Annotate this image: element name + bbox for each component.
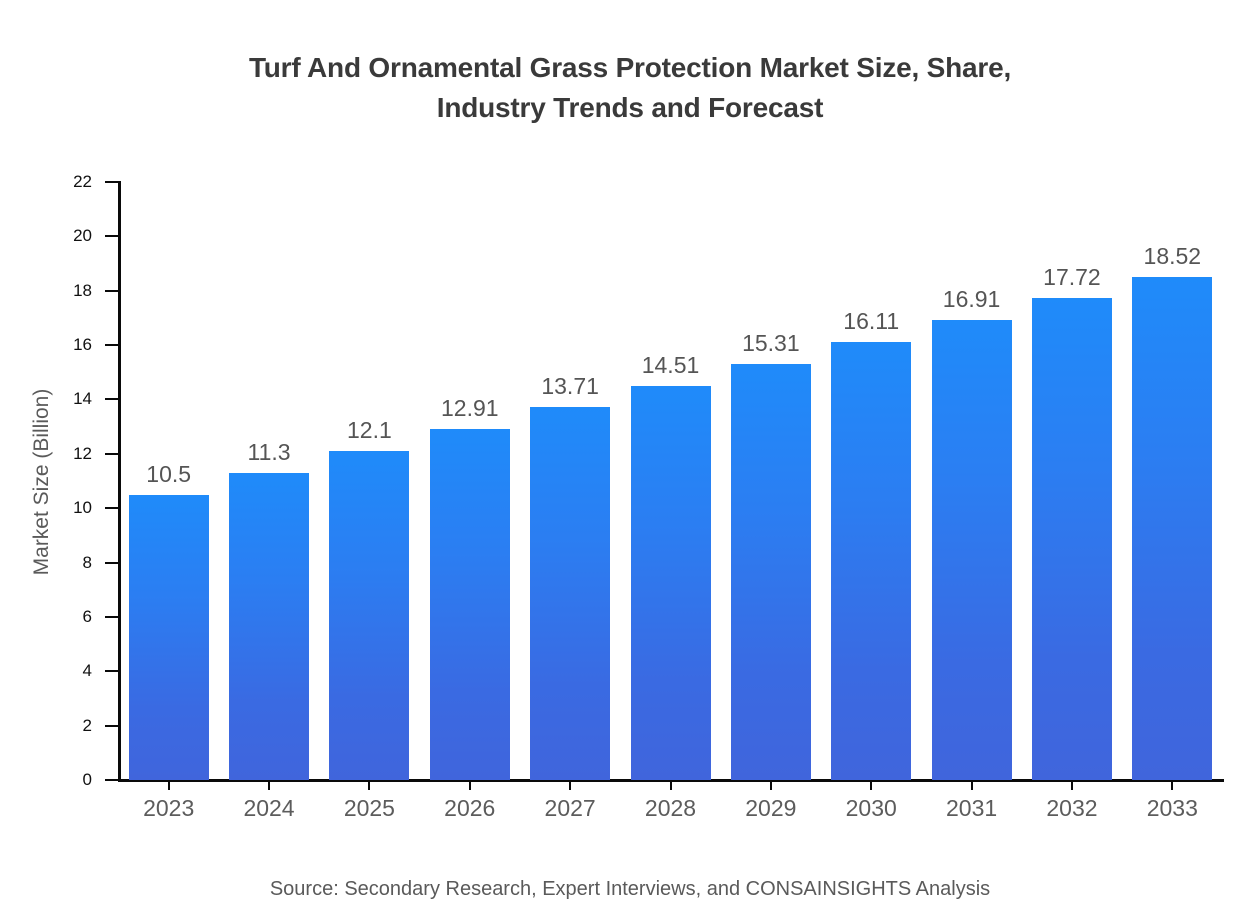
y-tick-label-14: 14 — [0, 390, 92, 407]
bar-2032[interactable] — [1032, 298, 1112, 780]
y-tick-2 — [105, 725, 119, 727]
bar-2027[interactable] — [530, 407, 610, 780]
bar-2024[interactable] — [229, 473, 309, 780]
x-tick-2028 — [670, 780, 672, 790]
x-tick-label-2033: 2033 — [1102, 795, 1242, 821]
y-tick-label-8: 8 — [0, 554, 92, 571]
y-tick-label-16: 16 — [0, 336, 92, 353]
y-tick-label-18: 18 — [0, 282, 92, 299]
x-tick-2032 — [1071, 780, 1073, 790]
y-tick-label-2: 2 — [0, 717, 92, 734]
chart-title: Turf And Ornamental Grass Protection Mar… — [70, 48, 1190, 128]
source-note: Source: Secondary Research, Expert Inter… — [0, 878, 1260, 901]
y-tick-6 — [105, 616, 119, 618]
bar-value-2033: 18.52 — [1092, 243, 1252, 269]
x-tick-2027 — [569, 780, 571, 790]
y-tick-8 — [105, 562, 119, 564]
chart-title-line-2: Industry Trends and Forecast — [70, 88, 1190, 128]
bar-2031[interactable] — [932, 320, 1012, 780]
x-tick-2023 — [168, 780, 170, 790]
bar-2033[interactable] — [1132, 277, 1212, 780]
chart-figure: Turf And Ornamental Grass Protection Mar… — [0, 0, 1260, 920]
bar-2025[interactable] — [329, 451, 409, 780]
y-tick-label-20: 20 — [0, 227, 92, 244]
y-tick-4 — [105, 670, 119, 672]
bar-2029[interactable] — [731, 364, 811, 780]
y-tick-12 — [105, 453, 119, 455]
y-tick-22 — [105, 181, 119, 183]
bar-2026[interactable] — [430, 429, 510, 780]
y-tick-label-22: 22 — [0, 173, 92, 190]
chart-title-line-1: Turf And Ornamental Grass Protection Mar… — [70, 48, 1190, 88]
x-tick-2031 — [971, 780, 973, 790]
y-tick-14 — [105, 398, 119, 400]
y-tick-16 — [105, 344, 119, 346]
x-tick-2033 — [1171, 780, 1173, 790]
bar-2023[interactable] — [129, 495, 209, 780]
x-tick-2030 — [870, 780, 872, 790]
y-tick-20 — [105, 235, 119, 237]
x-tick-2025 — [368, 780, 370, 790]
y-axis-label: Market Size (Billion) — [30, 317, 54, 647]
bar-2028[interactable] — [631, 386, 711, 780]
y-tick-18 — [105, 290, 119, 292]
y-tick-label-12: 12 — [0, 445, 92, 462]
y-tick-label-10: 10 — [0, 499, 92, 516]
x-tick-2026 — [469, 780, 471, 790]
y-tick-label-6: 6 — [0, 608, 92, 625]
x-tick-2024 — [268, 780, 270, 790]
bar-2030[interactable] — [831, 342, 911, 780]
y-tick-0 — [105, 779, 119, 781]
y-tick-label-0: 0 — [0, 771, 92, 788]
y-tick-label-4: 4 — [0, 662, 92, 679]
y-tick-10 — [105, 507, 119, 509]
x-tick-2029 — [770, 780, 772, 790]
